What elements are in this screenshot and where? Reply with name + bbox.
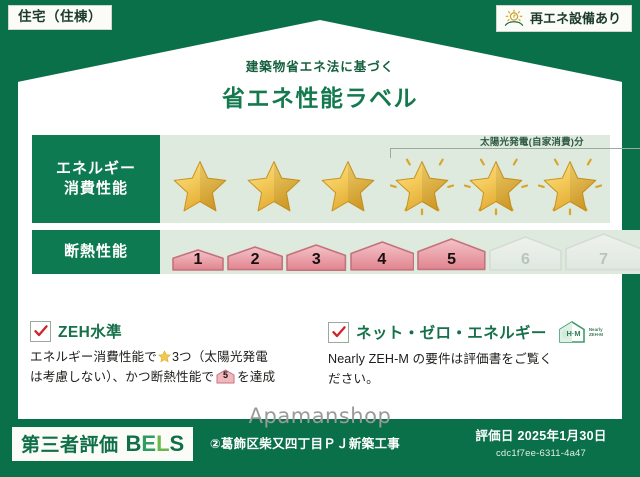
- insulation-level-active: 5: [417, 238, 486, 270]
- zeh-standard-check: ZEH水準 エネルギー消費性能で3つ（太陽光発電は考慮しない）、かつ断熱性能で5…: [30, 320, 312, 389]
- star-base: [238, 155, 310, 217]
- insulation-level-number: 7: [599, 252, 608, 268]
- net-zero-energy-check: ネット・ゼロ・エネルギー H·M Nearly ZEH-M Nearly ZEH…: [328, 320, 610, 389]
- zeh-house-icon: H·M: [557, 320, 587, 344]
- energy-consumption-label-line1: エネルギー: [56, 159, 136, 179]
- insulation-label-text: 断熱性能: [64, 242, 128, 262]
- zeh-desc-part1: エネルギー消費性能で: [30, 350, 157, 364]
- check-icon: [34, 324, 48, 338]
- insulation-body: 1 2 3 4: [160, 230, 640, 274]
- bels-jp-label: 第三者評価: [21, 430, 119, 457]
- star-base: [312, 155, 384, 217]
- star-icon: [537, 155, 603, 217]
- energy-consumption-row: エネルギー 消費性能 太陽光発電(自家消費)分: [32, 135, 610, 223]
- star-solar: [386, 155, 458, 217]
- renewable-energy-badge: 再エネ設備あり: [496, 5, 632, 32]
- insulation-level-number: 3: [312, 252, 321, 268]
- insulation-level-active: 1: [172, 249, 224, 271]
- insulation-level-number: 6: [521, 252, 530, 268]
- star-icon: [167, 155, 233, 217]
- svg-text:H·M: H·M: [566, 329, 580, 338]
- sun-icon: [503, 9, 525, 27]
- star-solar: [460, 155, 532, 217]
- star-icon: [389, 155, 455, 217]
- nze-desc-part2: ださい。: [328, 372, 379, 386]
- inline-house-badge: 5: [216, 369, 235, 384]
- nze-desc-part1: Nearly ZEH-M の要件は評価書をご覧く: [328, 352, 552, 366]
- renewable-energy-badge-label: 再エネ設備あり: [530, 12, 621, 25]
- certification-checks: ZEH水準 エネルギー消費性能で3つ（太陽光発電は考慮しない）、かつ断熱性能で5…: [30, 320, 610, 389]
- insulation-level-number: 2: [251, 252, 260, 268]
- zeh-desc-star-count: 3つ（太陽光発電: [172, 350, 268, 364]
- title-subtitle: 建築物省エネ法に基づく: [0, 56, 640, 75]
- energy-label-root: 住宅（住棟） 再エネ設備あり 建築物省エネ法に基づく 省エネ性能ラベル: [0, 0, 640, 477]
- net-zero-energy-description: Nearly ZEH-M の要件は評価書をご覧ください。: [328, 350, 610, 389]
- insulation-row: 断熱性能 1 2 3: [32, 230, 610, 274]
- project-name: ②葛飾区柴又四丁目ＰＪ新築工事: [210, 433, 400, 452]
- insulation-level-active: 4: [350, 241, 415, 271]
- energy-consumption-label: エネルギー 消費性能: [32, 135, 160, 223]
- zeh-standard-checkbox[interactable]: [30, 321, 51, 342]
- insulation-level-number: 1: [194, 252, 203, 268]
- insulation-level-scale: 1 2 3 4: [164, 233, 640, 271]
- evaluation-id: cdc1f7ee-6311-4a47: [456, 448, 626, 459]
- insulation-level-number: 4: [377, 252, 386, 268]
- insulation-label: 断熱性能: [32, 230, 160, 274]
- inline-house-number: 5: [216, 371, 235, 380]
- zeh-standard-description: エネルギー消費性能で3つ（太陽光発電は考慮しない）、かつ断熱性能で5を達成: [30, 348, 312, 387]
- insulation-level-number: 5: [447, 252, 456, 268]
- bels-en-label: BELS: [126, 431, 185, 457]
- inline-star-icon: [158, 350, 171, 363]
- building-type-tag: 住宅（住棟）: [8, 5, 112, 30]
- solar-annotation-label: 太陽光発電(自家消費)分: [388, 134, 640, 148]
- zeh-m-logo: H·M Nearly ZEH-M: [557, 320, 603, 344]
- zeh-desc-part3: を達成: [237, 370, 275, 384]
- star-icon: [463, 155, 529, 217]
- performance-rows: エネルギー 消費性能 太陽光発電(自家消費)分: [32, 135, 610, 281]
- insulation-level-active: 3: [286, 244, 346, 271]
- insulation-level-inactive: 6: [489, 236, 562, 271]
- star-solar: [534, 155, 606, 217]
- bels-badge: 第三者評価 BELS: [12, 427, 193, 461]
- insulation-level-inactive: 7: [565, 233, 640, 271]
- star-base: [164, 155, 236, 217]
- net-zero-energy-title: ネット・ゼロ・エネルギー: [356, 321, 547, 343]
- energy-consumption-body: 太陽光発電(自家消費)分: [160, 135, 610, 223]
- zeh-desc-part2: は考慮しない）、かつ断熱性能で: [30, 370, 214, 384]
- zeh-m-logo-sub: Nearly ZEH-M: [589, 327, 603, 337]
- insulation-level-active: 2: [227, 246, 283, 271]
- energy-consumption-label-line2: 消費性能: [64, 179, 128, 199]
- check-icon: [332, 325, 346, 339]
- label-title-block: 建築物省エネ法に基づく 省エネ性能ラベル: [0, 56, 640, 113]
- watermark: Apamanshop: [0, 404, 640, 428]
- page-title: 省エネ性能ラベル: [0, 79, 640, 113]
- net-zero-energy-header: ネット・ゼロ・エネルギー H·M Nearly ZEH-M: [328, 320, 610, 344]
- solar-annotation-bracket: [390, 148, 640, 158]
- star-icon: [315, 155, 381, 217]
- evaluation-info: 評価日 2025年1月30日 cdc1f7ee-6311-4a47: [456, 425, 626, 459]
- zeh-m-logo-sub-line2: ZEH-M: [589, 332, 603, 337]
- zeh-standard-title: ZEH水準: [58, 320, 122, 342]
- star-icon: [241, 155, 307, 217]
- net-zero-energy-checkbox[interactable]: [328, 322, 349, 343]
- zeh-standard-header: ZEH水準: [30, 320, 312, 342]
